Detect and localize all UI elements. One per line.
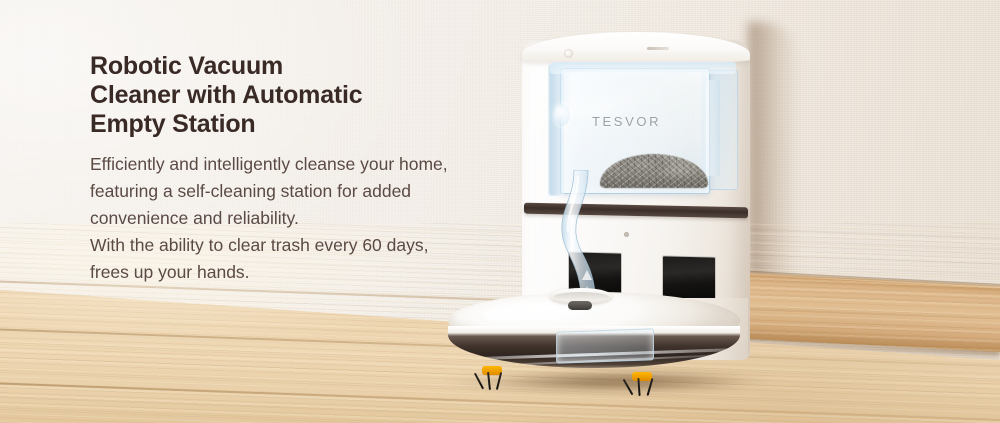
product-banner: TESVOR bbox=[0, 0, 1000, 423]
station-indicator-light bbox=[624, 232, 629, 237]
robotic-vacuum-cleaner bbox=[438, 286, 750, 396]
headline-line-1: Robotic Vacuum bbox=[90, 52, 520, 81]
brush-bristle bbox=[474, 373, 484, 390]
body-line-2: featuring a self-cleaning station for ad… bbox=[90, 178, 520, 205]
marketing-copy: Robotic Vacuum Cleaner with Automatic Em… bbox=[90, 52, 520, 286]
dust-bin-inner-wall bbox=[706, 80, 720, 176]
body-copy: Efficiently and intelligently cleanse yo… bbox=[90, 151, 520, 286]
station-vent-slot bbox=[647, 47, 669, 50]
station-top-cap bbox=[522, 32, 750, 62]
side-brush-hub bbox=[632, 372, 652, 381]
brush-bristle bbox=[623, 379, 634, 396]
page-title: Robotic Vacuum Cleaner with Automatic Em… bbox=[90, 52, 520, 139]
collected-dust-debris bbox=[600, 150, 708, 188]
headline-line-2: Cleaner with Automatic bbox=[90, 81, 520, 110]
lidar-turret bbox=[550, 288, 612, 312]
robot-clear-panel bbox=[556, 328, 654, 363]
dust-bin-handle bbox=[554, 104, 570, 126]
side-brush-right bbox=[622, 372, 662, 398]
brand-logo: TESVOR bbox=[592, 114, 661, 129]
body-line-4: With the ability to clear trash every 60… bbox=[90, 232, 520, 259]
body-line-5: frees up your hands. bbox=[90, 259, 520, 286]
debris-texture bbox=[600, 154, 708, 188]
side-brush-left bbox=[472, 366, 512, 392]
body-line-1: Efficiently and intelligently cleanse yo… bbox=[90, 151, 520, 178]
headline-line-3: Empty Station bbox=[90, 110, 520, 139]
body-line-3: convenience and reliability. bbox=[90, 205, 520, 232]
lidar-sensor-window bbox=[568, 301, 592, 310]
dust-bin-glare bbox=[567, 67, 689, 117]
station-corner-detail bbox=[564, 49, 573, 58]
